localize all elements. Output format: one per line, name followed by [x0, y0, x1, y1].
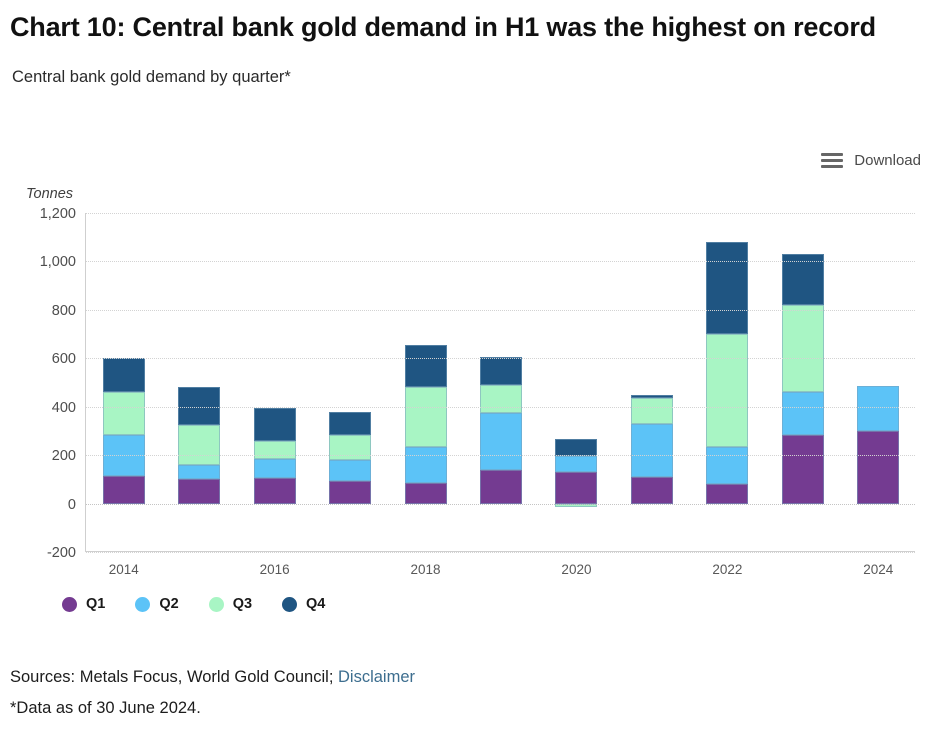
bar-segment-q1[interactable] — [631, 477, 673, 504]
gridline: 800 — [86, 310, 915, 311]
bar-group[interactable] — [178, 213, 220, 551]
bar-group[interactable] — [706, 213, 748, 551]
legend-item-q3[interactable]: Q3 — [209, 596, 252, 612]
bar-group[interactable] — [405, 213, 447, 551]
legend-swatch-icon — [282, 597, 297, 612]
bar-segment-q3[interactable] — [103, 392, 145, 434]
y-axis-tick-label: 0 — [68, 497, 76, 513]
disclaimer-link[interactable]: Disclaimer — [338, 668, 415, 686]
bar-segment-q3[interactable] — [405, 387, 447, 446]
y-axis-tick-label: 200 — [52, 448, 76, 464]
gridline: -200 — [86, 552, 915, 553]
plot-area: -20002004006008001,0001,200 201420162018… — [85, 213, 915, 552]
gridline: 200 — [86, 455, 915, 456]
bar-segment-q1[interactable] — [480, 470, 522, 504]
chart-legend: Q1Q2Q3Q4 — [62, 596, 325, 612]
bar-segment-q1[interactable] — [329, 481, 371, 503]
bar-segment-q3[interactable] — [480, 385, 522, 413]
y-axis-tick-label: -200 — [47, 545, 76, 561]
legend-item-q1[interactable]: Q1 — [62, 596, 105, 612]
legend-item-q2[interactable]: Q2 — [135, 596, 178, 612]
gridline: 600 — [86, 358, 915, 359]
legend-label: Q2 — [159, 596, 178, 612]
legend-label: Q3 — [233, 596, 252, 612]
legend-label: Q4 — [306, 596, 325, 612]
x-axis-tick-label: 2024 — [863, 562, 893, 577]
bar-segment-q1[interactable] — [178, 479, 220, 503]
x-axis-tick-label: 2022 — [712, 562, 742, 577]
legend-swatch-icon — [62, 597, 77, 612]
sources-line: Sources: Metals Focus, World Gold Counci… — [10, 668, 910, 687]
bar-segment-q2[interactable] — [480, 413, 522, 470]
bars-layer — [86, 213, 915, 551]
bar-segment-q2[interactable] — [254, 459, 296, 478]
y-axis-unit-label: Tonnes — [26, 186, 73, 202]
bar-segment-q1[interactable] — [254, 478, 296, 503]
legend-swatch-icon — [209, 597, 224, 612]
bar-segment-q4[interactable] — [555, 439, 597, 456]
legend-swatch-icon — [135, 597, 150, 612]
x-axis-tick-label: 2016 — [260, 562, 290, 577]
bar-segment-q4[interactable] — [254, 408, 296, 441]
bar-segment-q1[interactable] — [103, 476, 145, 504]
y-axis-tick-label: 1,200 — [40, 206, 76, 222]
chart-page: Chart 10: Central bank gold demand in H1… — [0, 0, 939, 746]
bar-segment-q3[interactable] — [782, 305, 824, 392]
x-axis-tick-label: 2020 — [561, 562, 591, 577]
y-axis-tick-label: 800 — [52, 303, 76, 319]
x-axis-tick-label: 2014 — [109, 562, 139, 577]
sources-text: Sources: Metals Focus, World Gold Counci… — [10, 668, 338, 686]
bar-group[interactable] — [782, 213, 824, 551]
download-button[interactable]: Download — [821, 152, 921, 169]
bar-segment-q2[interactable] — [329, 460, 371, 481]
gridline: 1,200 — [86, 213, 915, 214]
bar-segment-q1[interactable] — [857, 431, 899, 504]
gridline: 0 — [86, 504, 915, 505]
page-title: Chart 10: Central bank gold demand in H1… — [10, 0, 929, 46]
bar-group[interactable] — [103, 213, 145, 551]
bar-segment-q3[interactable] — [631, 398, 673, 423]
bar-segment-q2[interactable] — [555, 456, 597, 472]
chart-subtitle: Central bank gold demand by quarter* — [10, 46, 929, 87]
bar-segment-q4[interactable] — [329, 412, 371, 435]
bar-group[interactable] — [857, 213, 899, 551]
bar-segment-q4[interactable] — [706, 242, 748, 334]
bar-segment-q1[interactable] — [782, 435, 824, 504]
y-axis-tick-label: 1,000 — [40, 254, 76, 270]
gridline: 400 — [86, 407, 915, 408]
legend-label: Q1 — [86, 596, 105, 612]
bar-segment-q1[interactable] — [706, 484, 748, 503]
bar-group[interactable] — [631, 213, 673, 551]
bar-segment-q2[interactable] — [782, 392, 824, 434]
bar-group[interactable] — [254, 213, 296, 551]
bar-segment-q4[interactable] — [480, 357, 522, 385]
chart-canvas: Tonnes -20002004006008001,0001,200 20142… — [10, 186, 929, 586]
bar-segment-q2[interactable] — [706, 447, 748, 485]
bar-segment-q4[interactable] — [103, 358, 145, 392]
bar-segment-q2[interactable] — [405, 447, 447, 483]
bar-group[interactable] — [329, 213, 371, 551]
bar-segment-q2[interactable] — [631, 424, 673, 477]
bar-segment-q4[interactable] — [631, 395, 673, 399]
hamburger-icon — [821, 153, 843, 168]
gridline: 1,000 — [86, 261, 915, 262]
data-note: *Data as of 30 June 2024. — [10, 699, 910, 718]
bar-segment-q3[interactable] — [178, 425, 220, 465]
bar-segment-q1[interactable] — [555, 472, 597, 503]
bar-segment-q2[interactable] — [178, 465, 220, 480]
y-axis-tick-label: 400 — [52, 400, 76, 416]
download-label: Download — [854, 152, 921, 169]
bar-group[interactable] — [555, 213, 597, 551]
y-axis-tick-label: 600 — [52, 351, 76, 367]
legend-item-q4[interactable]: Q4 — [282, 596, 325, 612]
bar-group[interactable] — [480, 213, 522, 551]
bar-segment-q2[interactable] — [857, 386, 899, 431]
footer: Sources: Metals Focus, World Gold Counci… — [10, 668, 910, 718]
bar-segment-q4[interactable] — [405, 345, 447, 387]
x-axis-tick-label: 2018 — [411, 562, 441, 577]
bar-segment-q1[interactable] — [405, 483, 447, 504]
bar-segment-q3[interactable] — [706, 334, 748, 447]
bar-segment-q3[interactable] — [329, 435, 371, 460]
